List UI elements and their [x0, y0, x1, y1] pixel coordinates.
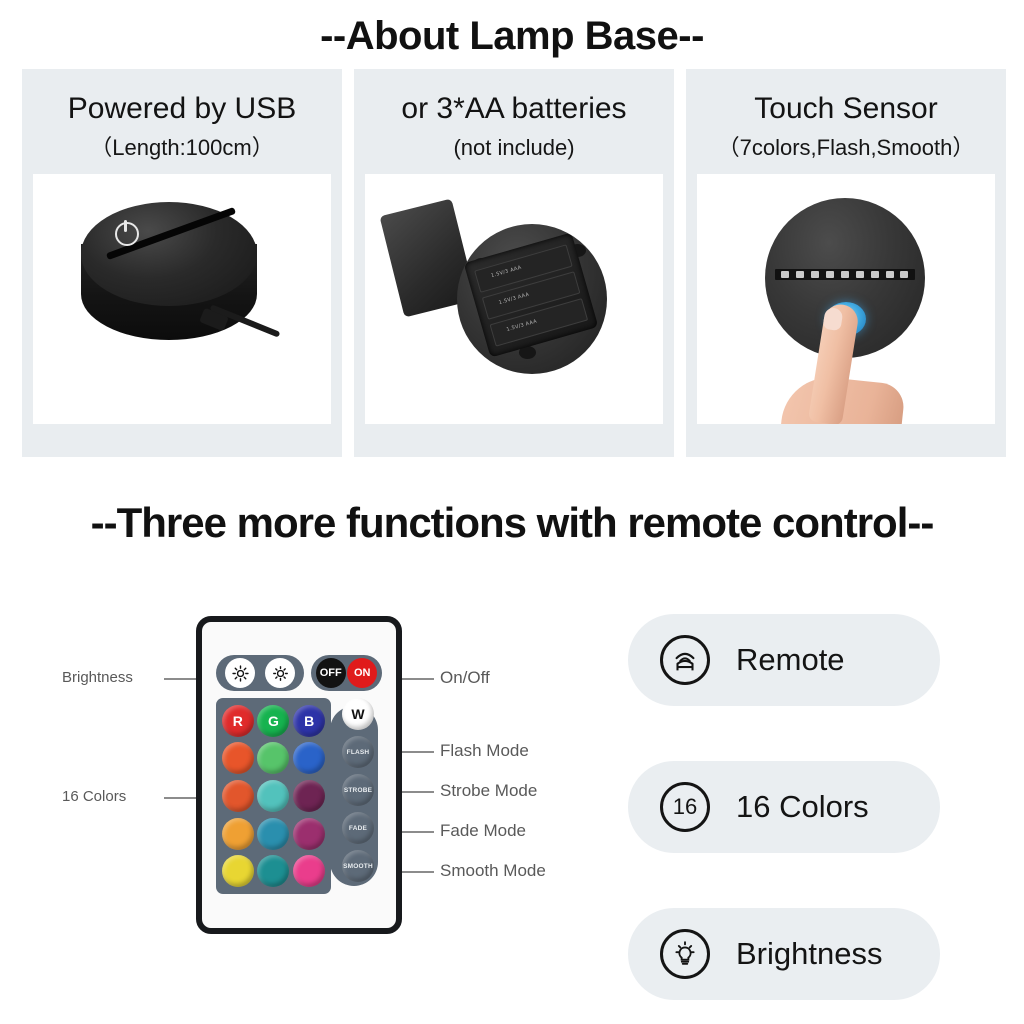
leader-line-fade: [400, 831, 434, 833]
callout-flash-mode: Flash Mode: [440, 741, 529, 761]
power-button-group: OFF ON: [311, 655, 382, 691]
card-powered-by-usb: Powered by USB （Length:100cm）: [22, 69, 342, 457]
badge-label: Brightness: [736, 936, 882, 972]
on-button[interactable]: ON: [347, 658, 377, 688]
page-title-about-lamp-base: --About Lamp Base--: [0, 12, 1024, 60]
flash-mode-button[interactable]: FLASH: [342, 736, 374, 768]
sixteen-icon-text: 16: [673, 794, 697, 820]
led-dot: [886, 271, 894, 278]
color-button[interactable]: [257, 780, 289, 812]
led-dot: [811, 271, 819, 278]
led-dot: [781, 271, 789, 278]
color-button-blue[interactable]: B: [293, 705, 325, 737]
card-subtitle: (not include): [453, 133, 574, 163]
callout-brightness: Brightness: [62, 669, 133, 686]
color-button[interactable]: [293, 818, 325, 850]
color-button[interactable]: [293, 855, 325, 887]
leader-line-flash: [400, 751, 434, 753]
leader-line-smooth: [400, 871, 434, 873]
battery-slot-label: 1.5V/3 AAA: [506, 319, 538, 333]
remote-control-body: OFF ON R G B W FLASH S: [196, 616, 402, 934]
feature-badge-list: Remote 16 16 Colors Brightness: [628, 614, 940, 984]
led-dot: [841, 271, 849, 278]
color-button[interactable]: [293, 742, 325, 774]
card-subtitle: （7colors,Flash,Smooth）: [718, 133, 975, 163]
badge-remote: Remote: [628, 614, 940, 706]
leader-line-onoff: [400, 678, 434, 680]
brightness-bulb-icon: [660, 929, 710, 979]
color-button[interactable]: [257, 742, 289, 774]
color-button-red[interactable]: R: [222, 705, 254, 737]
remote-control-diagram: Brightness 16 Colors On/Off Flash Mode S…: [40, 600, 600, 950]
color-button[interactable]: [222, 780, 254, 812]
brightness-down-icon[interactable]: [265, 658, 295, 688]
power-symbol-icon: [115, 222, 139, 246]
callout-smooth-mode: Smooth Mode: [440, 861, 546, 881]
color-button[interactable]: [222, 818, 254, 850]
off-button[interactable]: OFF: [316, 658, 346, 688]
led-dot: [796, 271, 804, 278]
color-button-green[interactable]: G: [257, 705, 289, 737]
fade-mode-button[interactable]: FADE: [342, 812, 374, 844]
led-dot: [900, 271, 908, 278]
badge-16-colors: 16 16 Colors: [628, 761, 940, 853]
color-button[interactable]: [222, 855, 254, 887]
page-title-three-more-functions: --Three more functions with remote contr…: [0, 497, 1024, 549]
card-title: Touch Sensor: [754, 89, 937, 129]
leader-line-strobe: [400, 791, 434, 793]
callout-strobe-mode: Strobe Mode: [440, 781, 537, 801]
callout-onoff: On/Off: [440, 668, 490, 688]
color-button[interactable]: [222, 742, 254, 774]
led-strip: [775, 269, 915, 280]
battery-slot-label: 1.5V/3 AAA: [498, 292, 530, 306]
color-button-white[interactable]: W: [342, 698, 374, 730]
smooth-mode-button[interactable]: SMOOTH: [342, 850, 374, 882]
callout-16-colors: 16 Colors: [62, 788, 126, 805]
callout-fade-mode: Fade Mode: [440, 821, 526, 841]
remote-top-button-row: OFF ON: [216, 655, 382, 691]
lamp-base-touch-photo: [697, 174, 995, 424]
card-title: Powered by USB: [68, 89, 296, 129]
brightness-button-group: [216, 655, 304, 691]
color-button[interactable]: [257, 855, 289, 887]
led-dot: [856, 271, 864, 278]
badge-label: Remote: [736, 642, 845, 678]
color-button[interactable]: [257, 818, 289, 850]
card-subtitle: （Length:100cm）: [90, 133, 273, 163]
battery-slot-label: 1.5V/3 AAA: [490, 265, 522, 279]
card-aa-batteries: or 3*AA batteries (not include) 1.5V/3 A…: [354, 69, 674, 457]
card-touch-sensor: Touch Sensor （7colors,Flash,Smooth）: [686, 69, 1006, 457]
lamp-base-usb-photo: [33, 174, 331, 424]
color-button-grid: R G B: [216, 698, 331, 894]
led-dot: [871, 271, 879, 278]
badge-label: 16 Colors: [736, 789, 869, 825]
lamp-base-battery-photo: 1.5V/3 AAA 1.5V/3 AAA 1.5V/3 AAA: [365, 174, 663, 424]
badge-brightness: Brightness: [628, 908, 940, 1000]
card-title: or 3*AA batteries: [401, 89, 626, 129]
lamp-base-cards-row: Powered by USB （Length:100cm） or 3*AA ba…: [22, 69, 1006, 457]
remote-signal-icon: [660, 635, 710, 685]
color-button[interactable]: [293, 780, 325, 812]
sixteen-circle-icon: 16: [660, 782, 710, 832]
strobe-mode-button[interactable]: STROBE: [342, 774, 374, 806]
led-dot: [826, 271, 834, 278]
brightness-up-icon[interactable]: [225, 658, 255, 688]
mode-button-column: W FLASH STROBE FADE SMOOTH: [334, 698, 382, 894]
